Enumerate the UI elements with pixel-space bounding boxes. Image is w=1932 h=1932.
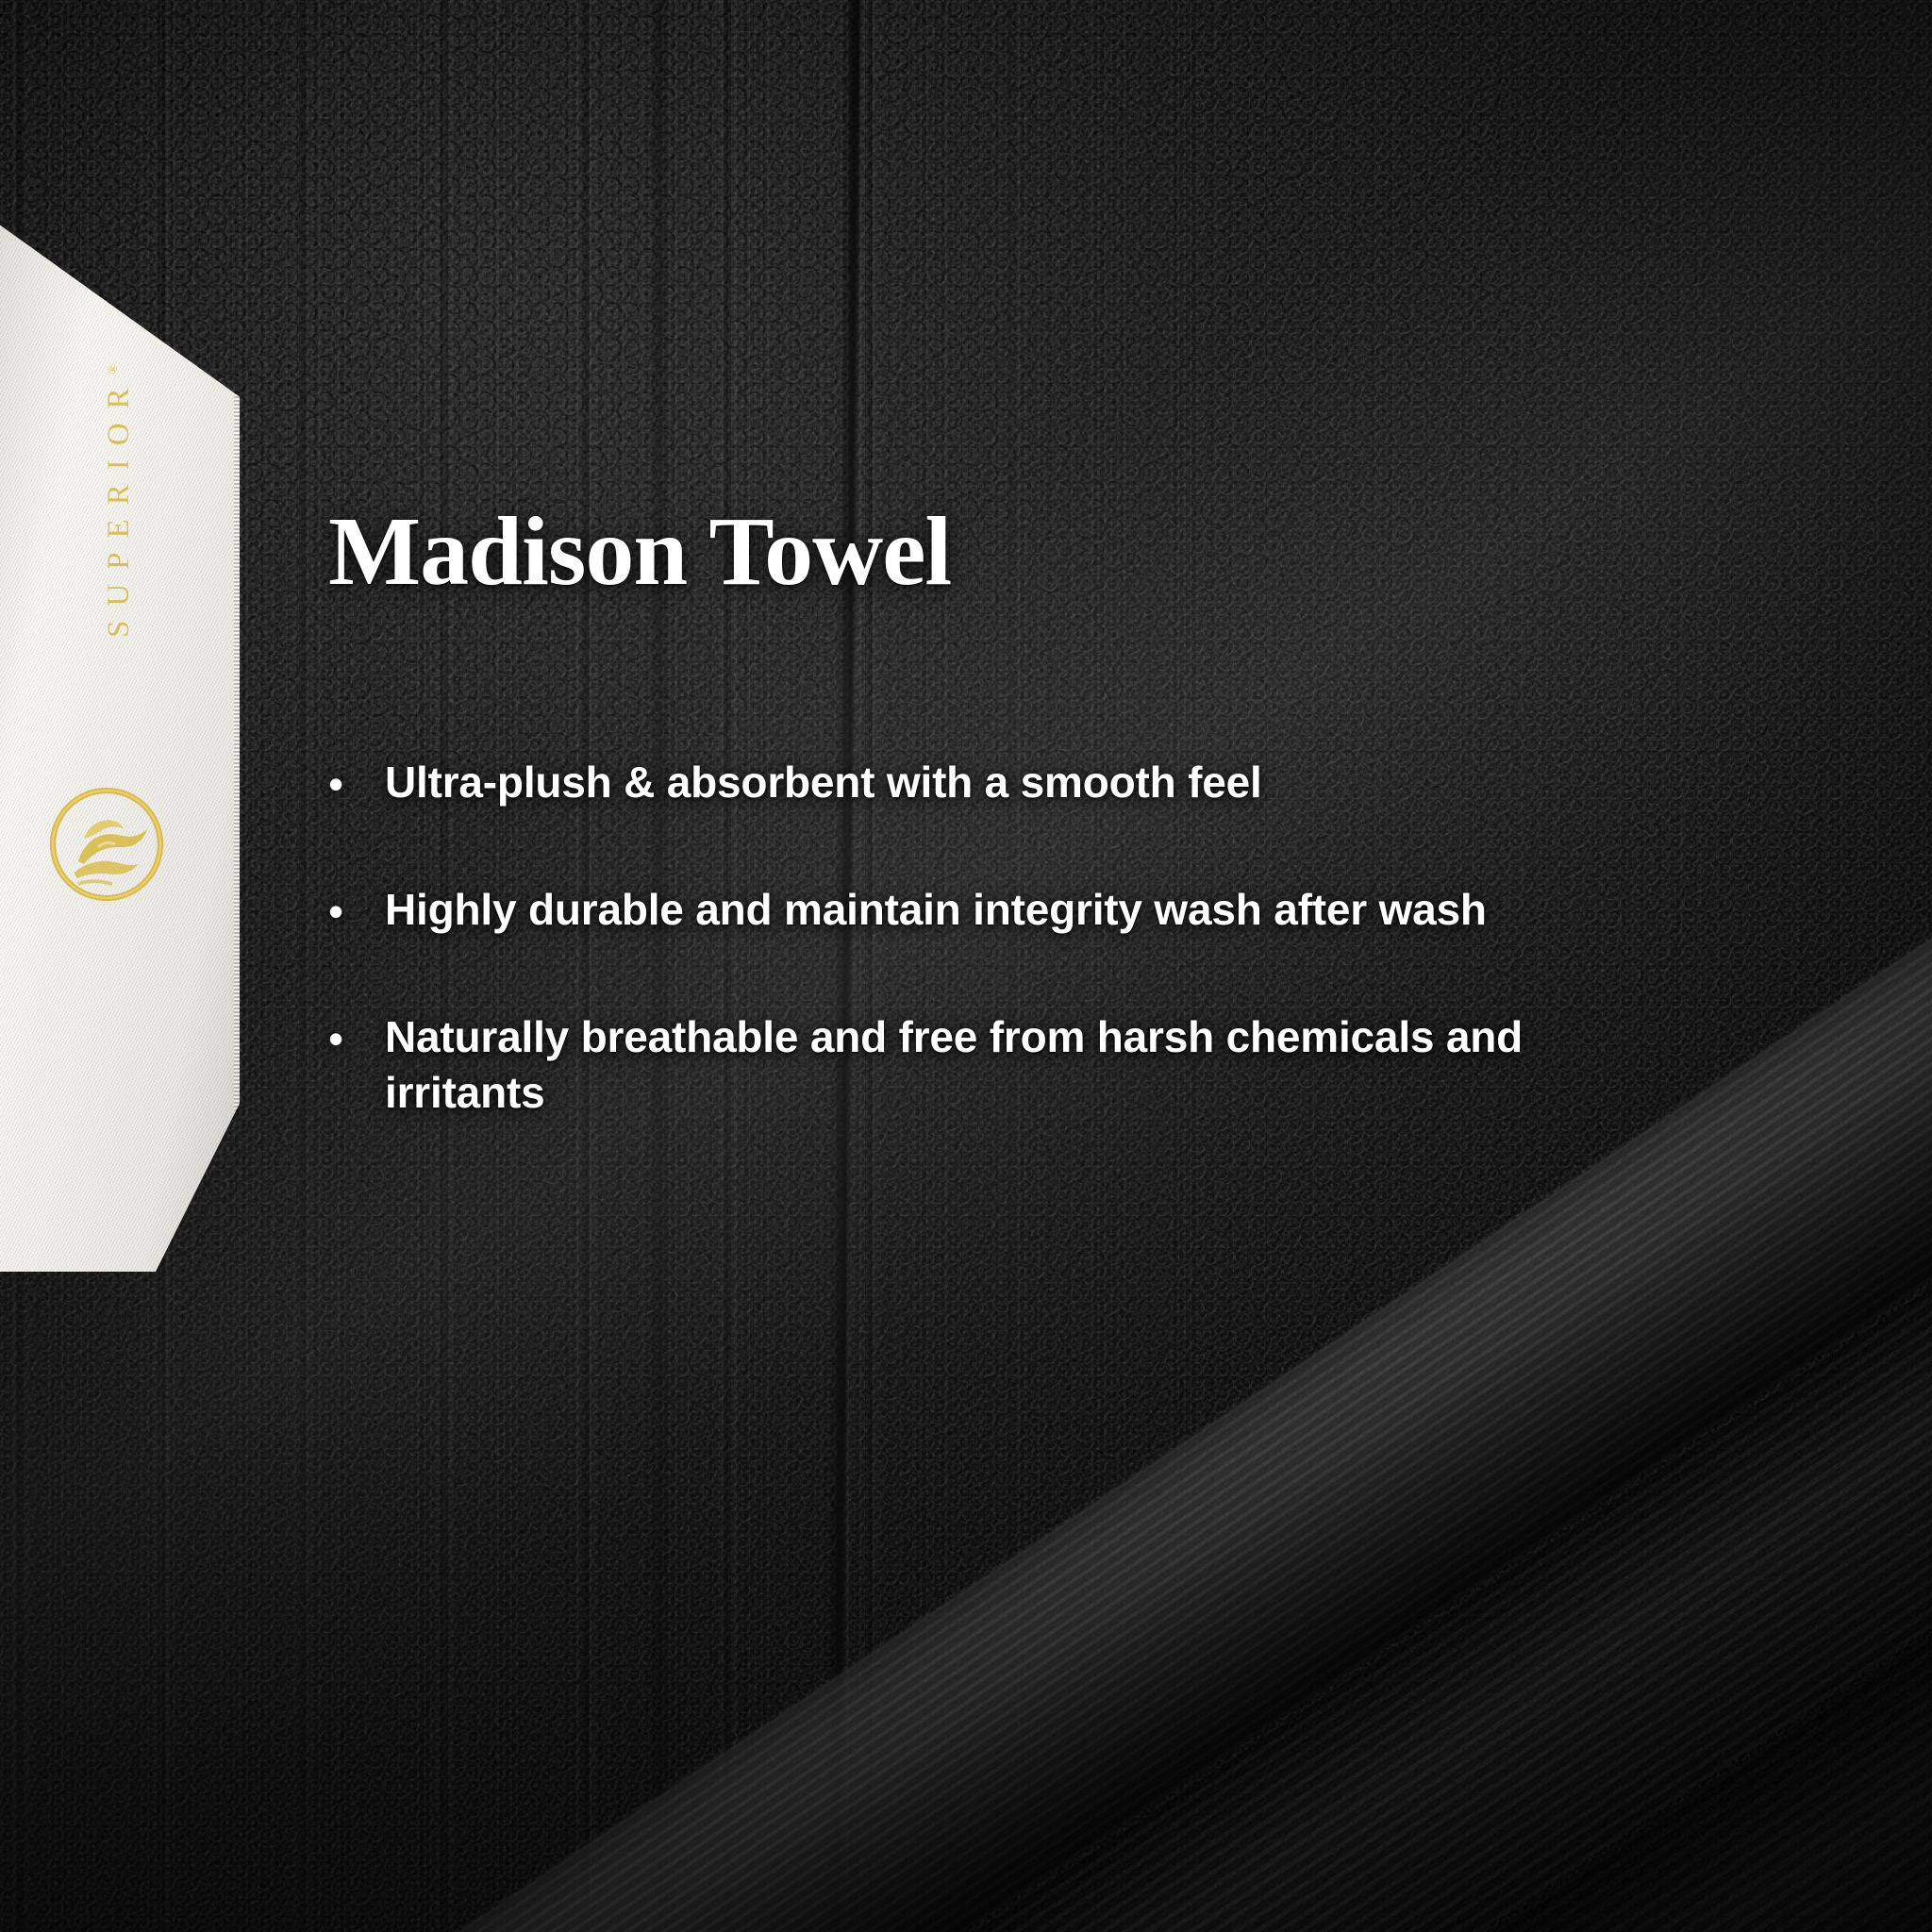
bullet-point-icon: • (328, 1009, 385, 1067)
feature-text: Ultra-plush & absorbent with a smooth fe… (385, 755, 1583, 810)
product-image-canvas: SUPERIOR® Madison Towel • Ultra-plush & … (0, 0, 1932, 1932)
product-title: Madison Towel (328, 500, 951, 603)
feature-list-item: • Naturally breathable and free from har… (328, 1009, 1583, 1121)
feature-list-item: • Ultra-plush & absorbent with a smooth … (328, 755, 1583, 812)
feature-list-item: • Highly durable and maintain integrity … (328, 882, 1583, 940)
bullet-point-icon: • (328, 882, 385, 940)
bullet-point-icon: • (328, 755, 385, 812)
marketing-copy-overlay: Madison Towel • Ultra-plush & absorbent … (0, 0, 1932, 1932)
feature-text: Naturally breathable and free from harsh… (385, 1009, 1583, 1121)
feature-list: • Ultra-plush & absorbent with a smooth … (328, 755, 1583, 1121)
feature-text: Highly durable and maintain integrity wa… (385, 882, 1583, 938)
